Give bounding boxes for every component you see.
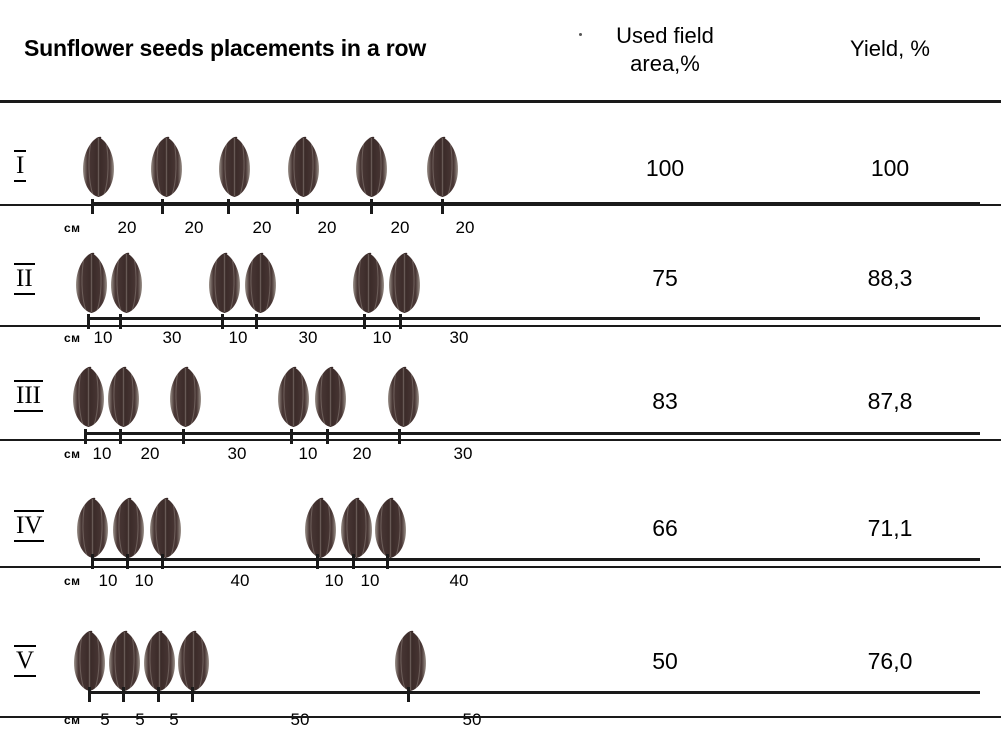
spacing-value: 5 — [90, 710, 120, 730]
ruler-tick — [191, 687, 194, 702]
spacing-value: 10 — [223, 328, 253, 348]
sunflower-seed — [108, 252, 145, 314]
ruler-tick — [407, 687, 410, 702]
ruler-axis — [89, 691, 980, 694]
variant-label: V — [14, 645, 36, 677]
spacing-value: 30 — [157, 328, 187, 348]
spacing-value: 10 — [319, 571, 349, 591]
sunflower-seed — [175, 630, 212, 692]
ruler-tick — [91, 199, 94, 214]
variant-label: III — [14, 380, 43, 412]
ruler-tick — [88, 687, 91, 702]
sunflower-seed — [206, 252, 243, 314]
spacing-value: 50 — [457, 710, 487, 730]
yield-value: 87,8 — [800, 388, 980, 415]
row-divider — [0, 439, 1001, 441]
ruler-tick — [398, 429, 401, 444]
used-field-area-value: 50 — [575, 648, 755, 675]
ruler-tick — [119, 429, 122, 444]
sunflower-seed — [216, 136, 253, 198]
sunflower-seed — [71, 630, 108, 692]
variant-label: II — [14, 263, 35, 295]
ruler-axis — [92, 558, 980, 561]
ruler-tick — [84, 429, 87, 444]
spacing-value: 20 — [347, 444, 377, 464]
spacing-value: 20 — [112, 218, 142, 238]
spacing-value: 30 — [448, 444, 478, 464]
yield-value: 71,1 — [800, 515, 980, 542]
sunflower-seed — [147, 497, 184, 559]
ruler-tick — [157, 687, 160, 702]
spacing-value: 40 — [444, 571, 474, 591]
spacing-value: 50 — [285, 710, 315, 730]
ruler-tick — [326, 429, 329, 444]
spacing-value: 10 — [88, 328, 118, 348]
spacing-value: 40 — [225, 571, 255, 591]
sunflower-seed — [242, 252, 279, 314]
sunflower-seed — [70, 366, 107, 428]
sunflower-seed — [392, 630, 429, 692]
sunflower-seed — [74, 497, 111, 559]
spacing-value: 10 — [293, 444, 323, 464]
unit-label-cm: см — [64, 221, 80, 235]
yield-value: 88,3 — [800, 265, 980, 292]
unit-label-cm: см — [64, 574, 80, 588]
page-title: Sunflower seeds placements in a row — [24, 35, 554, 62]
used-area-line2: area,% — [575, 50, 755, 78]
figure-sheet: Sunflower seeds placements in a row Used… — [0, 0, 1001, 747]
ruler-tick — [182, 429, 185, 444]
ruler-tick — [441, 199, 444, 214]
spacing-value: 30 — [222, 444, 252, 464]
sunflower-seed — [424, 136, 461, 198]
spacing-value: 20 — [135, 444, 165, 464]
spacing-value: 10 — [367, 328, 397, 348]
sunflower-seed — [106, 630, 143, 692]
sunflower-seed — [385, 366, 422, 428]
sunflower-seed — [105, 366, 142, 428]
ruler-tick — [296, 199, 299, 214]
unit-label-cm: см — [64, 331, 80, 345]
sunflower-seed — [285, 136, 322, 198]
spacing-value: 10 — [129, 571, 159, 591]
sunflower-seed — [372, 497, 409, 559]
sunflower-seed — [312, 366, 349, 428]
used-field-area-value: 100 — [575, 155, 755, 182]
sunflower-seed — [110, 497, 147, 559]
variant-label: IV — [14, 510, 44, 542]
spacing-value: 20 — [312, 218, 342, 238]
ruler-tick — [122, 687, 125, 702]
sunflower-seed — [167, 366, 204, 428]
table-header: Sunflower seeds placements in a row Used… — [0, 0, 1001, 100]
sunflower-seed — [353, 136, 390, 198]
spacing-value: 30 — [444, 328, 474, 348]
sunflower-seed — [350, 252, 387, 314]
spacing-value: 20 — [247, 218, 277, 238]
yield-value: 76,0 — [800, 648, 980, 675]
ruler-axis — [85, 432, 980, 435]
ruler-tick — [290, 429, 293, 444]
spacing-value: 20 — [179, 218, 209, 238]
column-header-used-area: Used field area,% — [575, 22, 755, 78]
spacing-value: 30 — [293, 328, 323, 348]
spacing-value: 10 — [87, 444, 117, 464]
sunflower-seed — [302, 497, 339, 559]
used-field-area-value: 66 — [575, 515, 755, 542]
row-divider — [0, 566, 1001, 568]
ruler-tick — [161, 199, 164, 214]
unit-label-cm: см — [64, 447, 80, 461]
sunflower-seed — [141, 630, 178, 692]
row-divider — [0, 204, 1001, 206]
sunflower-seed — [73, 252, 110, 314]
spacing-value: 10 — [93, 571, 123, 591]
used-field-area-value: 83 — [575, 388, 755, 415]
sunflower-seed — [148, 136, 185, 198]
sunflower-seed — [386, 252, 423, 314]
spacing-value: 5 — [159, 710, 189, 730]
yield-value: 100 — [800, 155, 980, 182]
column-header-yield: Yield, % — [800, 36, 980, 62]
row-divider — [0, 716, 1001, 718]
row-divider — [0, 325, 1001, 327]
spacing-value: 10 — [355, 571, 385, 591]
sunflower-seed — [80, 136, 117, 198]
used-field-area-value: 75 — [575, 265, 755, 292]
variant-label: I — [14, 150, 26, 182]
used-area-line1: Used field — [575, 22, 755, 50]
sunflower-seed — [338, 497, 375, 559]
ruler-tick — [370, 199, 373, 214]
ruler-tick — [227, 199, 230, 214]
sunflower-seed — [275, 366, 312, 428]
spacing-value: 20 — [385, 218, 415, 238]
spacing-value: 5 — [125, 710, 155, 730]
header-divider — [0, 100, 1001, 103]
spacing-value: 20 — [450, 218, 480, 238]
